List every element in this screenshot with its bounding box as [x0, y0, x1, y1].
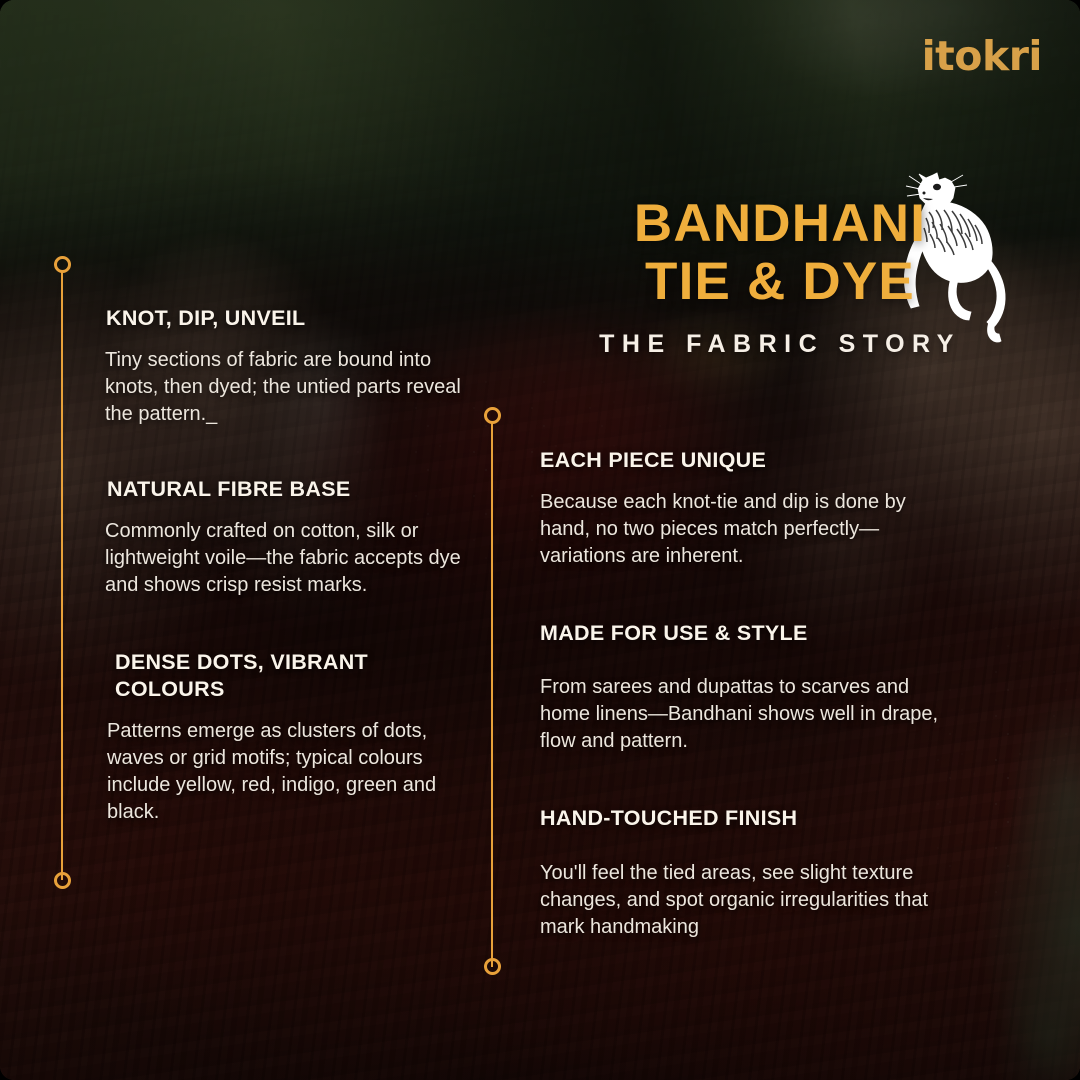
info-block-body: From sarees and dupattas to scarves and …: [540, 674, 945, 755]
info-block: NATURAL FIBRE BASE Commonly crafted on c…: [105, 476, 470, 599]
info-block-title: HAND-TOUCHED FINISH: [540, 805, 945, 831]
info-block-body: You'll feel the tied areas, see slight t…: [540, 860, 945, 941]
infographic-poster: itokri: [0, 0, 1080, 1080]
info-block-title: MADE FOR USE & STYLE: [540, 620, 945, 646]
right-column: EACH PIECE UNIQUE Because each knot-tie …: [540, 447, 945, 969]
brand-logo[interactable]: itokri: [922, 36, 1042, 77]
info-block-body: Tiny sections of fabric are bound into k…: [105, 347, 470, 428]
timeline-node-right-bottom: [484, 958, 501, 975]
title-line-1: BANDHANI: [545, 196, 1015, 252]
info-block-body: Patterns emerge as clusters of dots, wav…: [107, 718, 470, 826]
info-block: EACH PIECE UNIQUE Because each knot-tie …: [540, 447, 945, 570]
timeline-node-right-top: [484, 407, 501, 424]
info-block: HAND-TOUCHED FINISH You'll feel the tied…: [540, 805, 945, 940]
info-block-title: DENSE DOTS, VIBRANT COLOURS: [115, 649, 470, 701]
title-block: BANDHANI TIE & DYE THE FABRIC STORY: [545, 196, 1015, 359]
title-line-2: TIE & DYE: [545, 254, 1015, 310]
info-block: DENSE DOTS, VIBRANT COLOURS Patterns eme…: [105, 649, 470, 825]
timeline-rail-left: [61, 272, 63, 880]
timeline-rail-right: [491, 422, 493, 967]
subtitle: THE FABRIC STORY: [545, 330, 1015, 359]
timeline-node-left-top: [54, 256, 71, 273]
info-block: MADE FOR USE & STYLE From sarees and dup…: [540, 620, 945, 755]
info-block: KNOT, DIP, UNVEIL Tiny sections of fabri…: [105, 305, 470, 428]
info-block-body: Because each knot-tie and dip is done by…: [540, 489, 945, 570]
timeline-node-left-bottom: [54, 872, 71, 889]
info-block-title: KNOT, DIP, UNVEIL: [106, 305, 470, 331]
info-block-title: EACH PIECE UNIQUE: [540, 447, 945, 473]
info-block-body: Commonly crafted on cotton, silk or ligh…: [105, 518, 470, 599]
info-block-title: NATURAL FIBRE BASE: [107, 476, 470, 502]
left-column: KNOT, DIP, UNVEIL Tiny sections of fabri…: [105, 305, 470, 854]
